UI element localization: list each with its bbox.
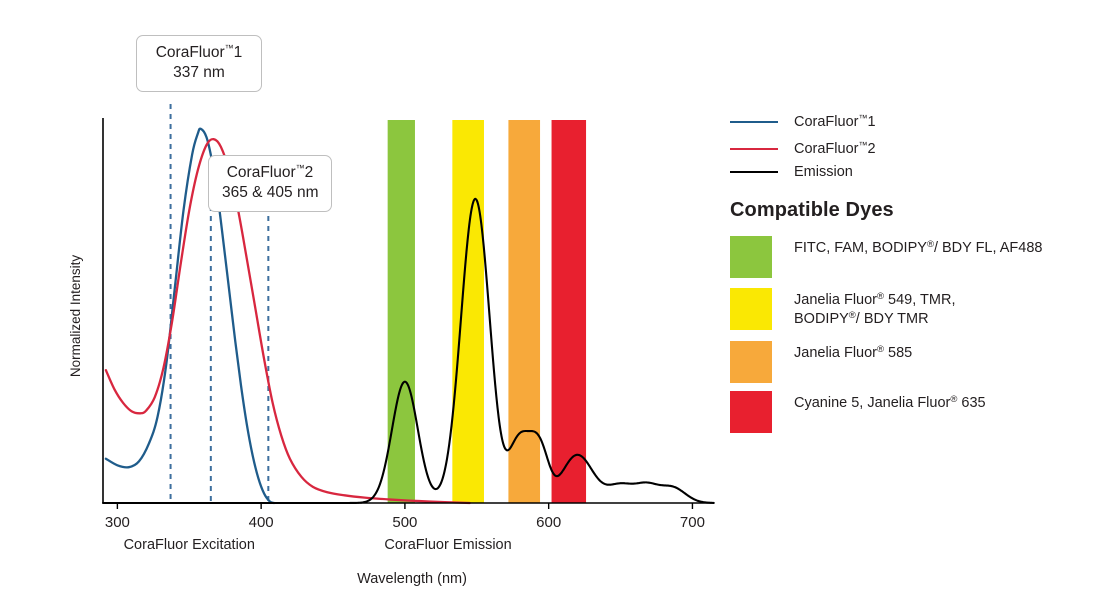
x-axis-title: Wavelength (nm) [357,571,467,587]
red-band [552,120,587,503]
y-axis-title: Normalized Intensity [68,255,83,378]
compatible-dyes-title: Compatible Dyes [730,199,894,222]
spectra-svg: 300400500600700CoraFluor ExcitationCoraF… [0,0,730,612]
region-label-excitation: CoraFluor Excitation [124,537,255,553]
legend-line-swatch-emission [730,171,778,173]
coraFluor1-callout-line2: 337 nm [150,63,248,83]
dye-label-green: FITC, FAM, BODIPY®/ BDY FL, AF488 [794,236,1042,258]
dye-swatch-green [730,236,772,278]
dye-label-orange: Janelia Fluor® 585 [794,341,912,363]
legend-line-swatch-coraFluor2 [730,148,778,150]
region-label-emission: CoraFluor Emission [384,537,511,553]
coraFluor2-callout-line1: CoraFluor™2 [222,163,318,183]
dye-row-yellow: Janelia Fluor® 549, TMR,BODIPY®/ BDY TMR [730,288,955,330]
x-tick-label-600: 600 [536,514,561,531]
dye-swatch-orange [730,341,772,383]
yellow-band [452,120,484,503]
legend-label-coraFluor2: CoraFluor™2 [794,140,876,157]
legend-label-coraFluor1: CoraFluor™1 [794,113,876,130]
legend-item-emission: Emission [730,164,853,180]
legend-item-coraFluor1: CoraFluor™1 [730,113,876,130]
coraFluor1-callout-line1: CoraFluor™1 [150,43,248,63]
coraFluor1-callout: CoraFluor™1 337 nm [136,35,262,92]
legend-item-coraFluor2: CoraFluor™2 [730,140,876,157]
x-tick-label-700: 700 [680,514,705,531]
dye-row-orange: Janelia Fluor® 585 [730,341,912,383]
plot-area: 300400500600700CoraFluor ExcitationCoraF… [0,0,730,612]
orange-band [508,120,540,503]
x-tick-label-300: 300 [105,514,130,531]
legend-line-swatch-coraFluor1 [730,121,778,123]
green-band [388,120,415,503]
dye-row-green: FITC, FAM, BODIPY®/ BDY FL, AF488 [730,236,1042,278]
coraFluor2-callout-line2: 365 & 405 nm [222,183,318,203]
dye-swatch-yellow [730,288,772,330]
dye-swatch-red [730,391,772,433]
chart-page: 300400500600700CoraFluor ExcitationCoraF… [0,0,1110,612]
legend-label-emission: Emission [794,164,853,180]
dye-label-red: Cyanine 5, Janelia Fluor® 635 [794,391,986,413]
x-tick-label-400: 400 [249,514,274,531]
coraFluor2-callout: CoraFluor™2 365 & 405 nm [208,155,332,212]
x-tick-label-500: 500 [392,514,417,531]
dye-label-yellow: Janelia Fluor® 549, TMR,BODIPY®/ BDY TMR [794,288,955,329]
dye-row-red: Cyanine 5, Janelia Fluor® 635 [730,391,986,433]
